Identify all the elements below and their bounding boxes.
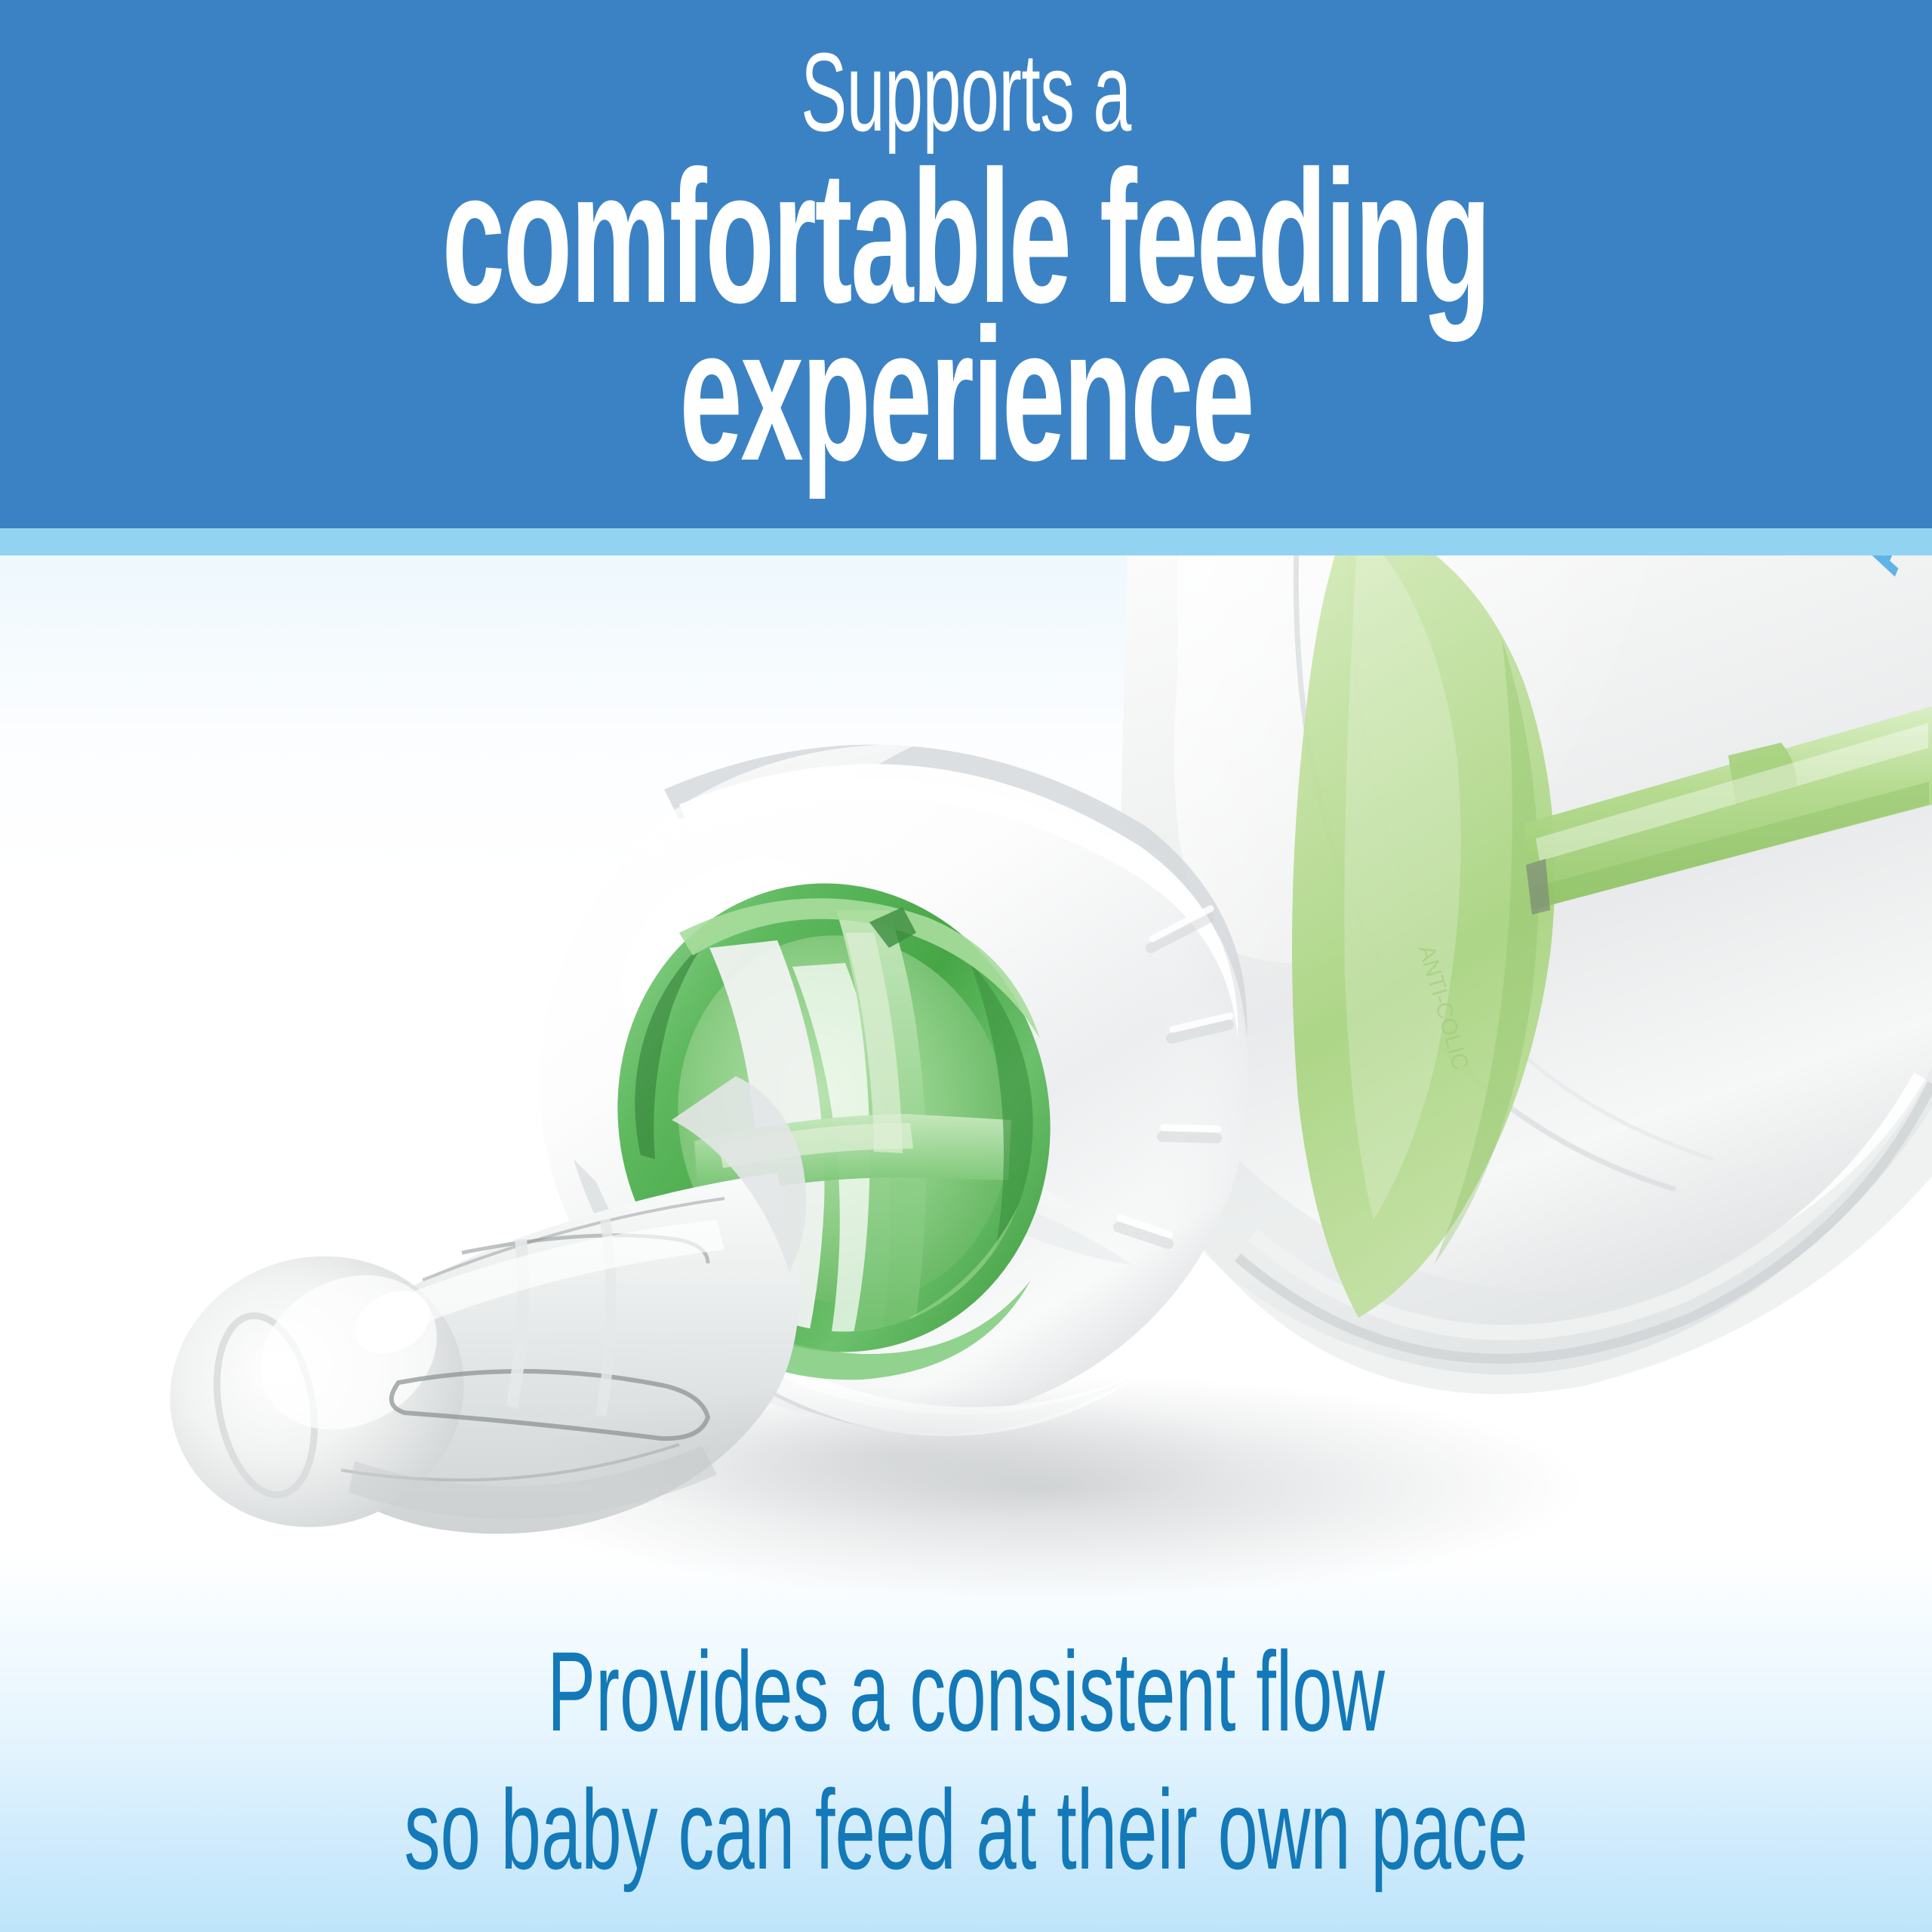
headline-line-3: experience	[679, 302, 1253, 487]
accent-divider-bar	[0, 528, 1932, 555]
product-illustration: ANTI-COLIC ANTI-COLIC	[0, 555, 1932, 1932]
header-banner: Supports a comfortable feeding experienc…	[0, 0, 1932, 528]
product-photo-stage: ANTI-COLIC ANTI-COLIC	[0, 555, 1932, 1932]
product-feature-panel: Supports a comfortable feeding experienc…	[0, 0, 1932, 1932]
